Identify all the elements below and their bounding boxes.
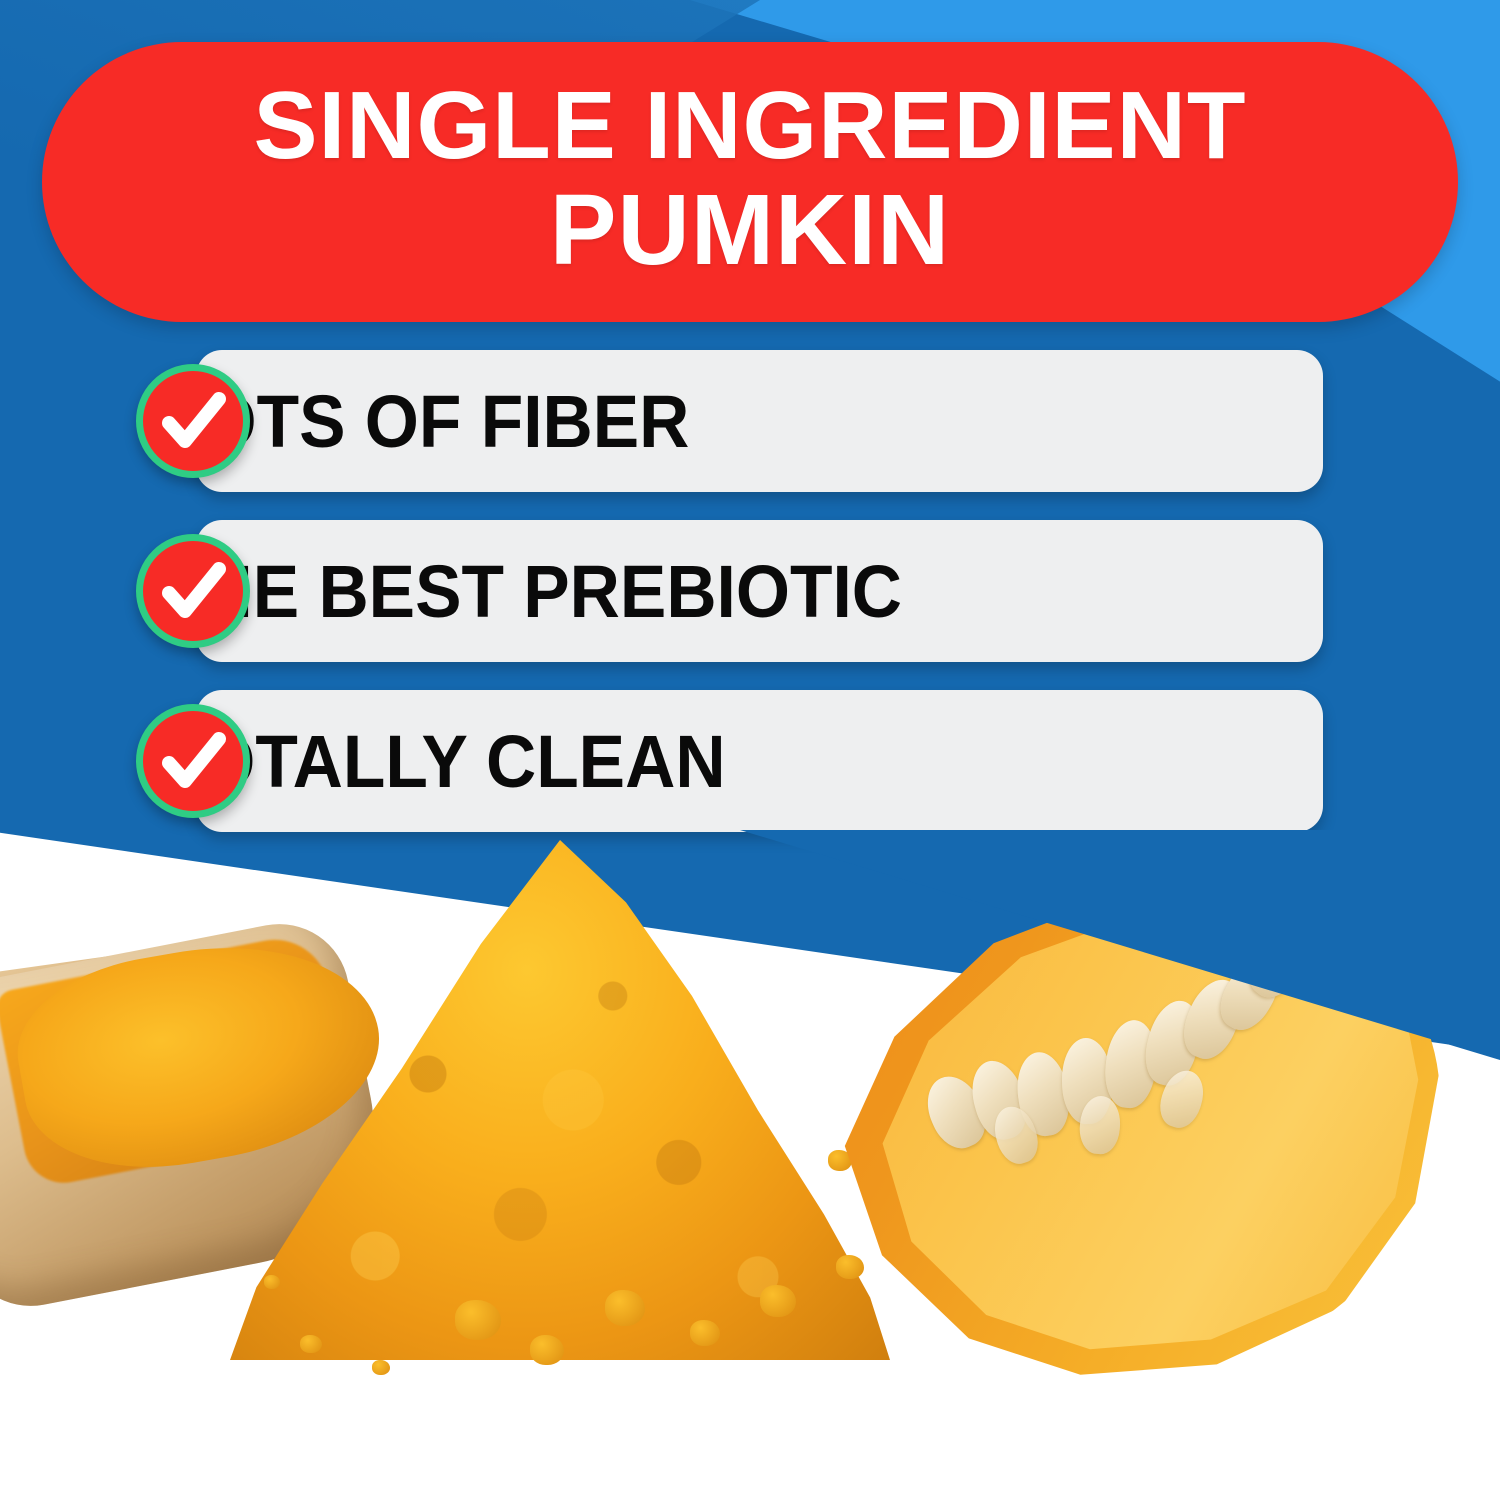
list-item: LOTS OF FIBER <box>0 350 1500 492</box>
headline-banner: SINGLE INGREDIENT PUMKIN <box>42 42 1458 322</box>
check-icon <box>136 704 250 818</box>
benefit-label-2: THE BEST PREBIOTIC <box>160 520 902 662</box>
powder-crumb <box>264 1275 280 1289</box>
headline-line-1: SINGLE INGREDIENT <box>253 77 1246 175</box>
powder-crumb <box>372 1360 390 1375</box>
check-icon <box>136 534 250 648</box>
poster-root: SINGLE INGREDIENT PUMKIN LOTS OF FIBER T… <box>0 0 1500 1500</box>
list-item: TOTALLY CLEAN <box>0 690 1500 832</box>
powder-crumb <box>760 1285 796 1317</box>
check-icon <box>136 364 250 478</box>
powder-crumb <box>300 1335 322 1353</box>
product-photo <box>0 830 1500 1500</box>
powder-crumb <box>605 1290 645 1326</box>
powder-crumb <box>836 1255 864 1279</box>
list-item: THE BEST PREBIOTIC <box>0 520 1500 662</box>
powder-crumb <box>530 1335 564 1365</box>
powder-crumb <box>455 1300 501 1340</box>
powder-crumb <box>690 1320 720 1346</box>
benefits-list: LOTS OF FIBER THE BEST PREBIOTIC TOTALLY… <box>0 350 1500 860</box>
headline-line-2: PUMKIN <box>550 179 950 281</box>
